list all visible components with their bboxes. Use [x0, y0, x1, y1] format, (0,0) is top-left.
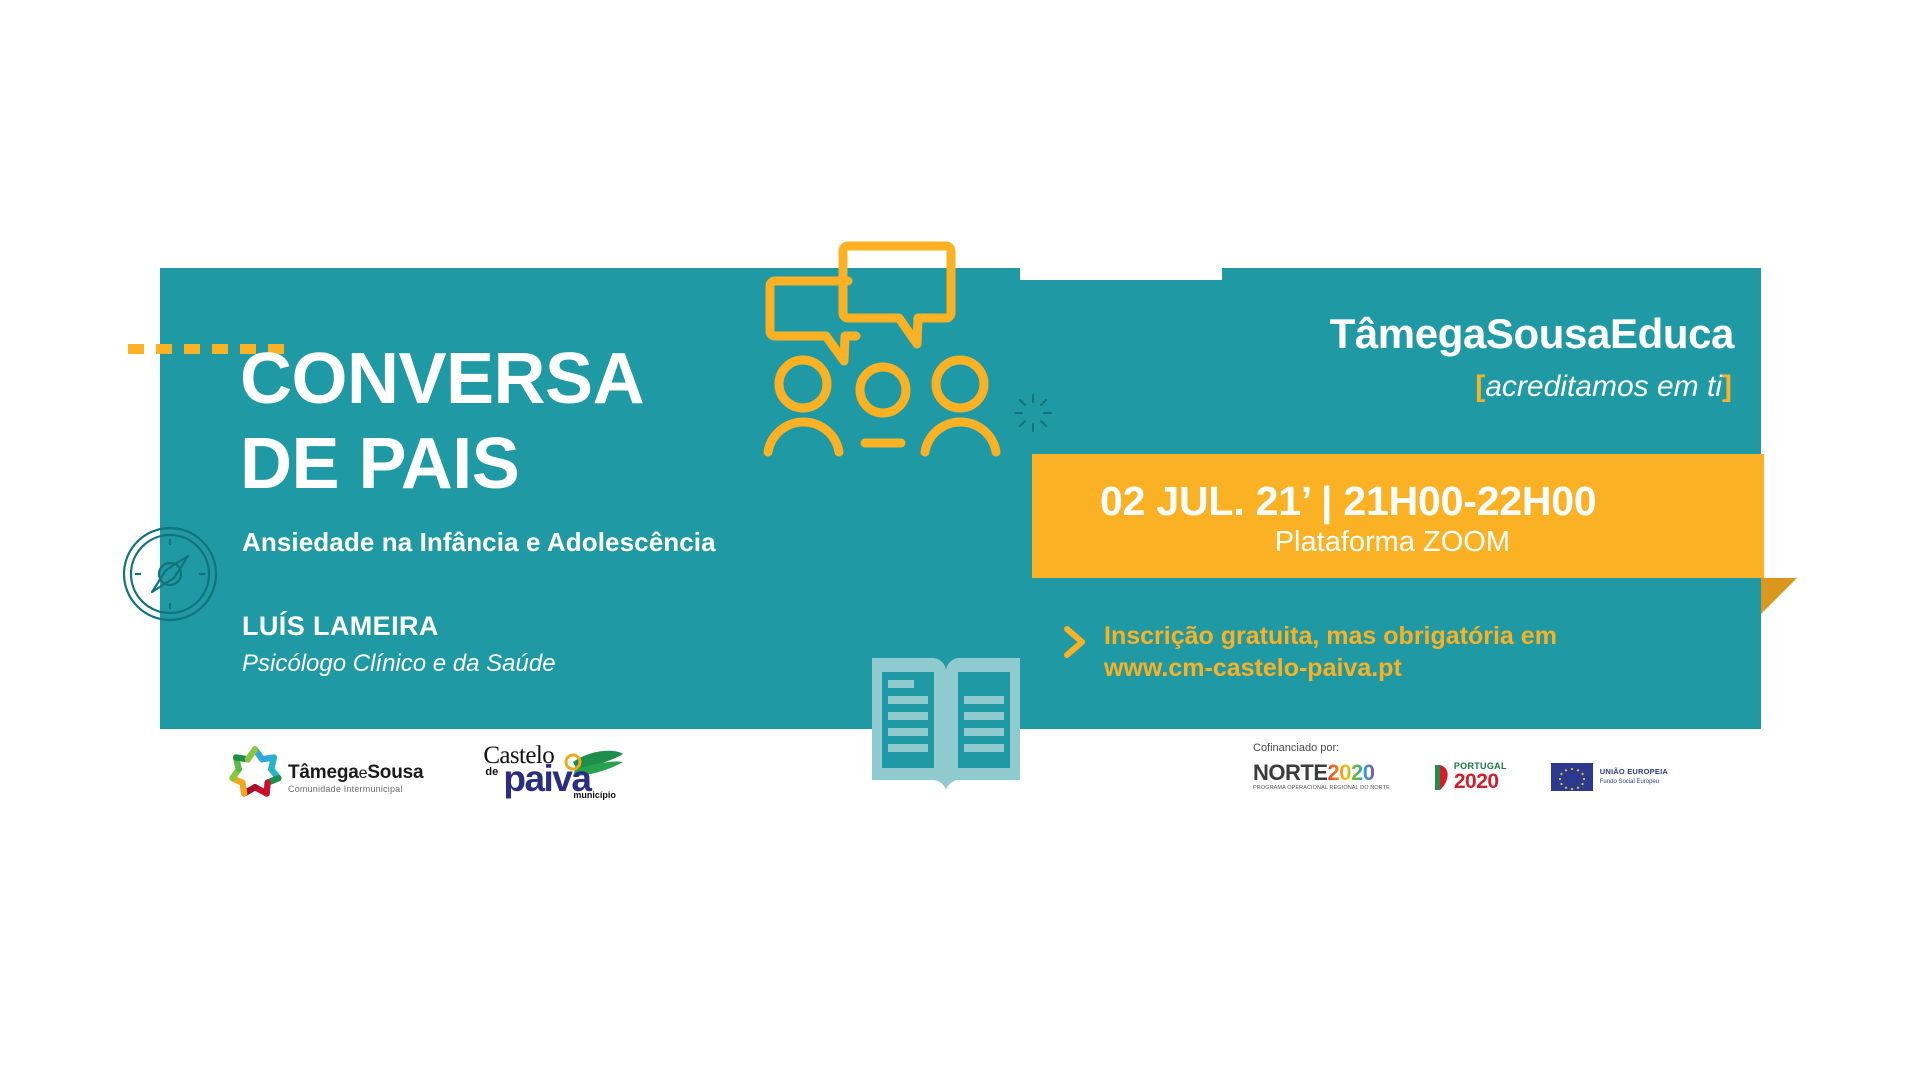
- tamega-name-thin: e: [359, 765, 368, 782]
- compass-icon: [120, 524, 220, 624]
- event-subtitle: Ansiedade na Infância e Adolescência: [242, 527, 716, 558]
- eu-flag-icon: [1551, 763, 1593, 791]
- schedule-platform: Plataforma ZOOM: [1275, 526, 1510, 559]
- dash-mark: [212, 344, 228, 354]
- logo-norte2020: NORTE 2020 PROGRAMA OPERACIONAL REGIONAL…: [1253, 762, 1390, 792]
- dash-mark: [184, 344, 200, 354]
- portugal-year: 2020: [1454, 771, 1507, 792]
- portugal-flag-icon: [1434, 764, 1449, 791]
- registration-url[interactable]: www.cm-castelo-paiva.pt: [1104, 652, 1557, 684]
- speaker-name: LUÍS LAMEIRA: [242, 611, 439, 642]
- eu-title: UNIÃO EUROPEIA: [1600, 767, 1668, 776]
- paiva-municipio-word: município: [573, 790, 616, 800]
- starburst-icon: [1012, 392, 1054, 434]
- funding-label: Cofinanciado por:: [1253, 742, 1673, 754]
- registration-info: Inscrição gratuita, mas obrigatória em w…: [1104, 620, 1557, 684]
- funding-logos: Cofinanciado por: NORTE 2020 PROGRAMA OP…: [1253, 742, 1673, 792]
- dash-mark: [128, 344, 144, 354]
- event-title: CONVERSA DE PAIS: [240, 337, 644, 507]
- brand-tagline: [acreditamos em ti]: [1475, 370, 1732, 404]
- chevron-right-icon: [1062, 625, 1088, 659]
- schedule-date-time: 02 JUL. 21’ | 21H00-22H00: [1100, 478, 1597, 525]
- ribbon-fold-corner: [1761, 578, 1797, 614]
- logo-castelo-de-paiva: Castelo de paiva município: [477, 740, 625, 802]
- norte-year: 2020: [1328, 762, 1375, 784]
- logo-portugal2020: PORTUGAL 2020: [1434, 762, 1507, 792]
- speaker-role: Psicólogo Clínico e da Saúde: [242, 650, 556, 678]
- dash-mark: [156, 344, 172, 354]
- registration-line1: Inscrição gratuita, mas obrigatória em: [1104, 620, 1557, 652]
- brand-tagline-text: acreditamos em ti: [1485, 370, 1722, 403]
- eu-subtitle: Fundo Social Europeu: [1600, 779, 1668, 787]
- star-logo-icon: [228, 744, 282, 798]
- open-book-icon: [868, 650, 1028, 798]
- event-title-line2: DE PAIS: [240, 422, 644, 507]
- logo-uniao-europeia: UNIÃO EUROPEIA Fundo Social Europeu: [1551, 763, 1668, 791]
- teal-band-top-notch: [1020, 268, 1222, 280]
- partner-logos: TâmegaeSousa Comunidade Intermunicipal C…: [228, 740, 625, 802]
- paiva-de-word: de: [485, 766, 498, 778]
- norte-subtitle: PROGRAMA OPERACIONAL REGIONAL DO NORTE: [1253, 786, 1390, 792]
- brand-title: TâmegaSousaEduca: [1330, 310, 1734, 358]
- people-speech-bubbles-icon: [755, 236, 1015, 476]
- poster-canvas: CONVERSA DE PAIS Ansiedade na Infância e…: [0, 0, 1920, 1080]
- tamega-name-bold1: Tâmega: [288, 762, 359, 783]
- tamega-name-bold2: Sousa: [367, 762, 423, 783]
- bracket-open: [: [1475, 370, 1485, 403]
- logo-tamega-e-sousa: TâmegaeSousa Comunidade Intermunicipal: [228, 744, 423, 798]
- bracket-close: ]: [1722, 370, 1732, 403]
- event-title-line1: CONVERSA: [240, 339, 644, 419]
- norte-word: NORTE: [1253, 762, 1328, 784]
- tamega-subtitle: Comunidade Intermunicipal: [288, 785, 423, 794]
